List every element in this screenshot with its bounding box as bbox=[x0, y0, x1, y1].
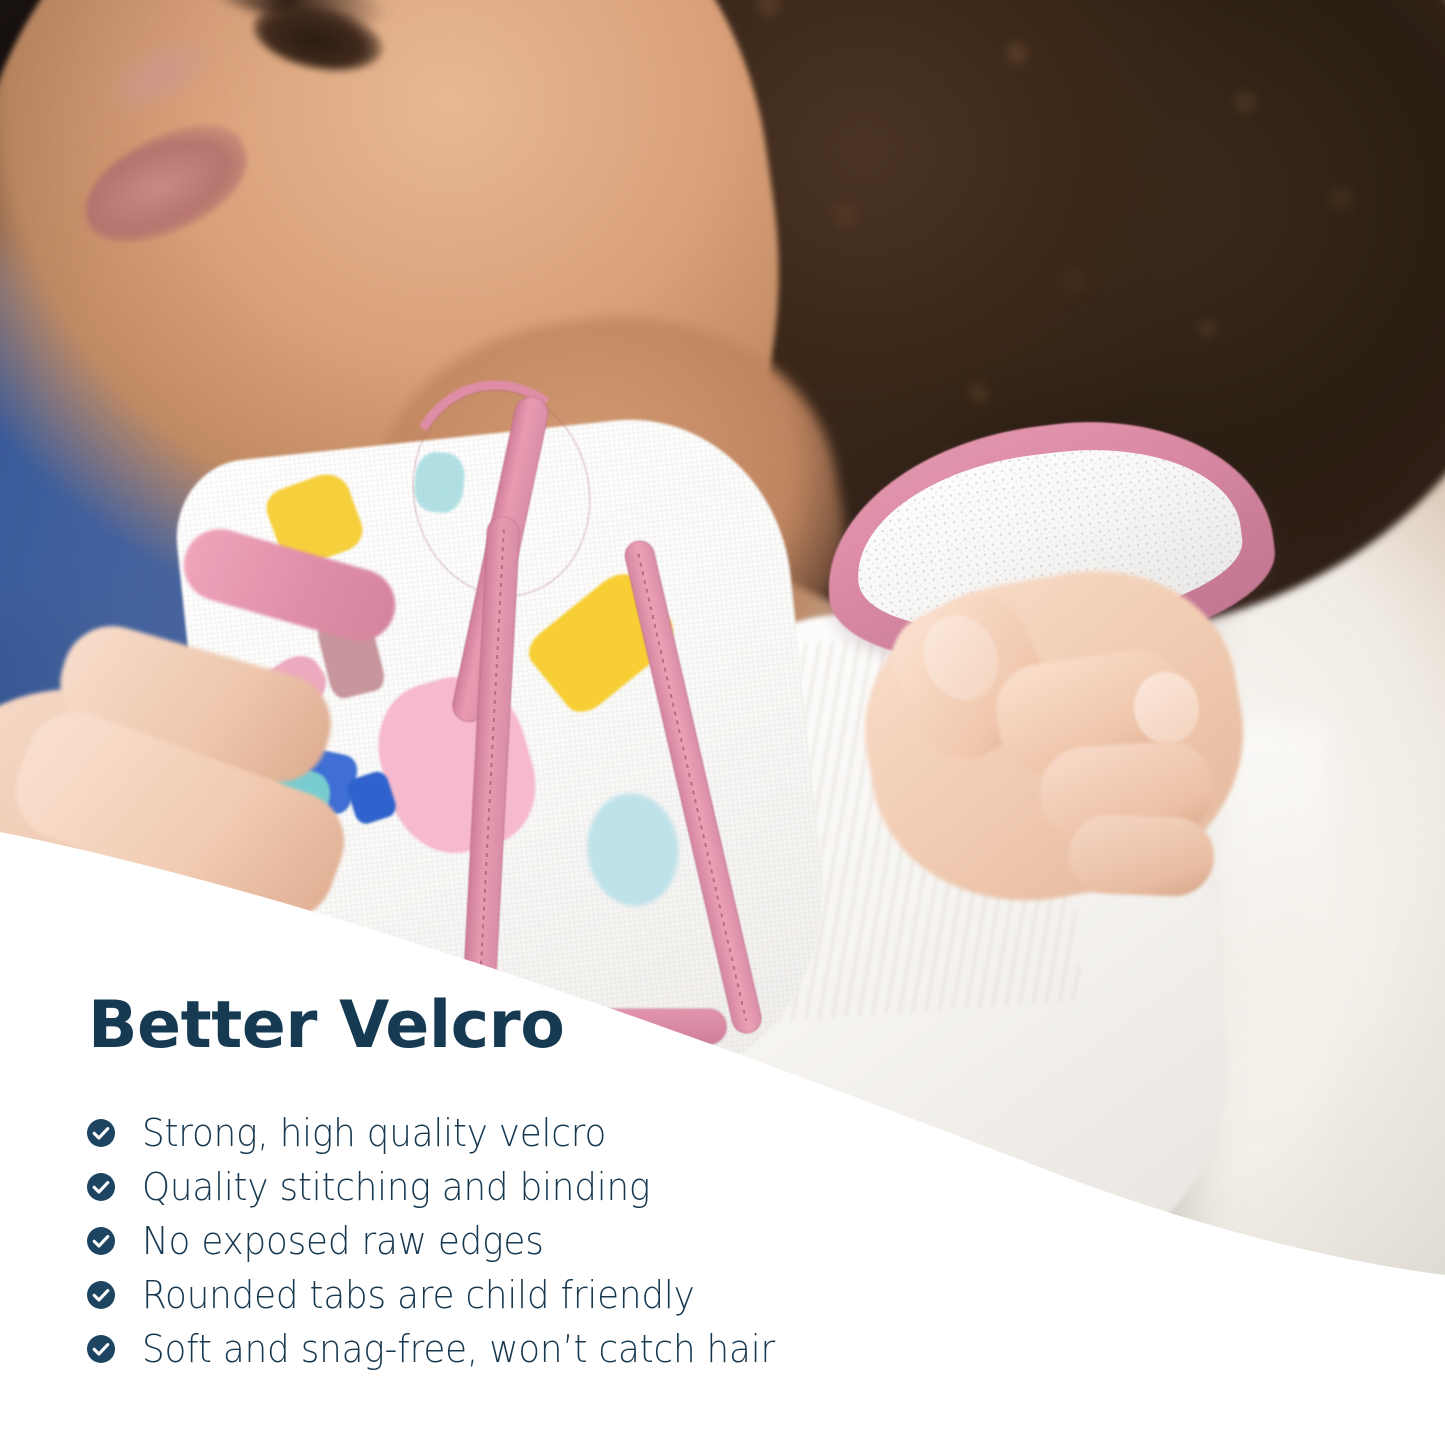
check-circle-icon bbox=[86, 1118, 116, 1148]
feature-label: No exposed raw edges bbox=[142, 1219, 544, 1263]
feature-label: Rounded tabs are child friendly bbox=[142, 1273, 695, 1317]
list-item: No exposed raw edges bbox=[86, 1214, 815, 1268]
check-circle-icon bbox=[86, 1334, 116, 1364]
feature-list: Strong, high quality velcro Quality stit… bbox=[86, 1106, 815, 1376]
list-item: Rounded tabs are child friendly bbox=[86, 1268, 815, 1322]
feature-label: Strong, high quality velcro bbox=[142, 1111, 606, 1155]
list-item: Quality stitching and binding bbox=[86, 1160, 815, 1214]
check-circle-icon bbox=[86, 1172, 116, 1202]
product-feature-card: Better Velcro Strong, high quality velcr… bbox=[0, 0, 1445, 1445]
check-circle-icon bbox=[86, 1226, 116, 1256]
check-circle-icon bbox=[86, 1280, 116, 1310]
list-item: Soft and snag-free, won’t catch hair bbox=[86, 1322, 815, 1376]
feature-label: Quality stitching and binding bbox=[142, 1165, 650, 1209]
feature-label: Soft and snag-free, won’t catch hair bbox=[142, 1327, 775, 1371]
text-content: Better Velcro Strong, high quality velcr… bbox=[0, 0, 1445, 1445]
page-title: Better Velcro bbox=[88, 988, 564, 1063]
list-item: Strong, high quality velcro bbox=[86, 1106, 815, 1160]
